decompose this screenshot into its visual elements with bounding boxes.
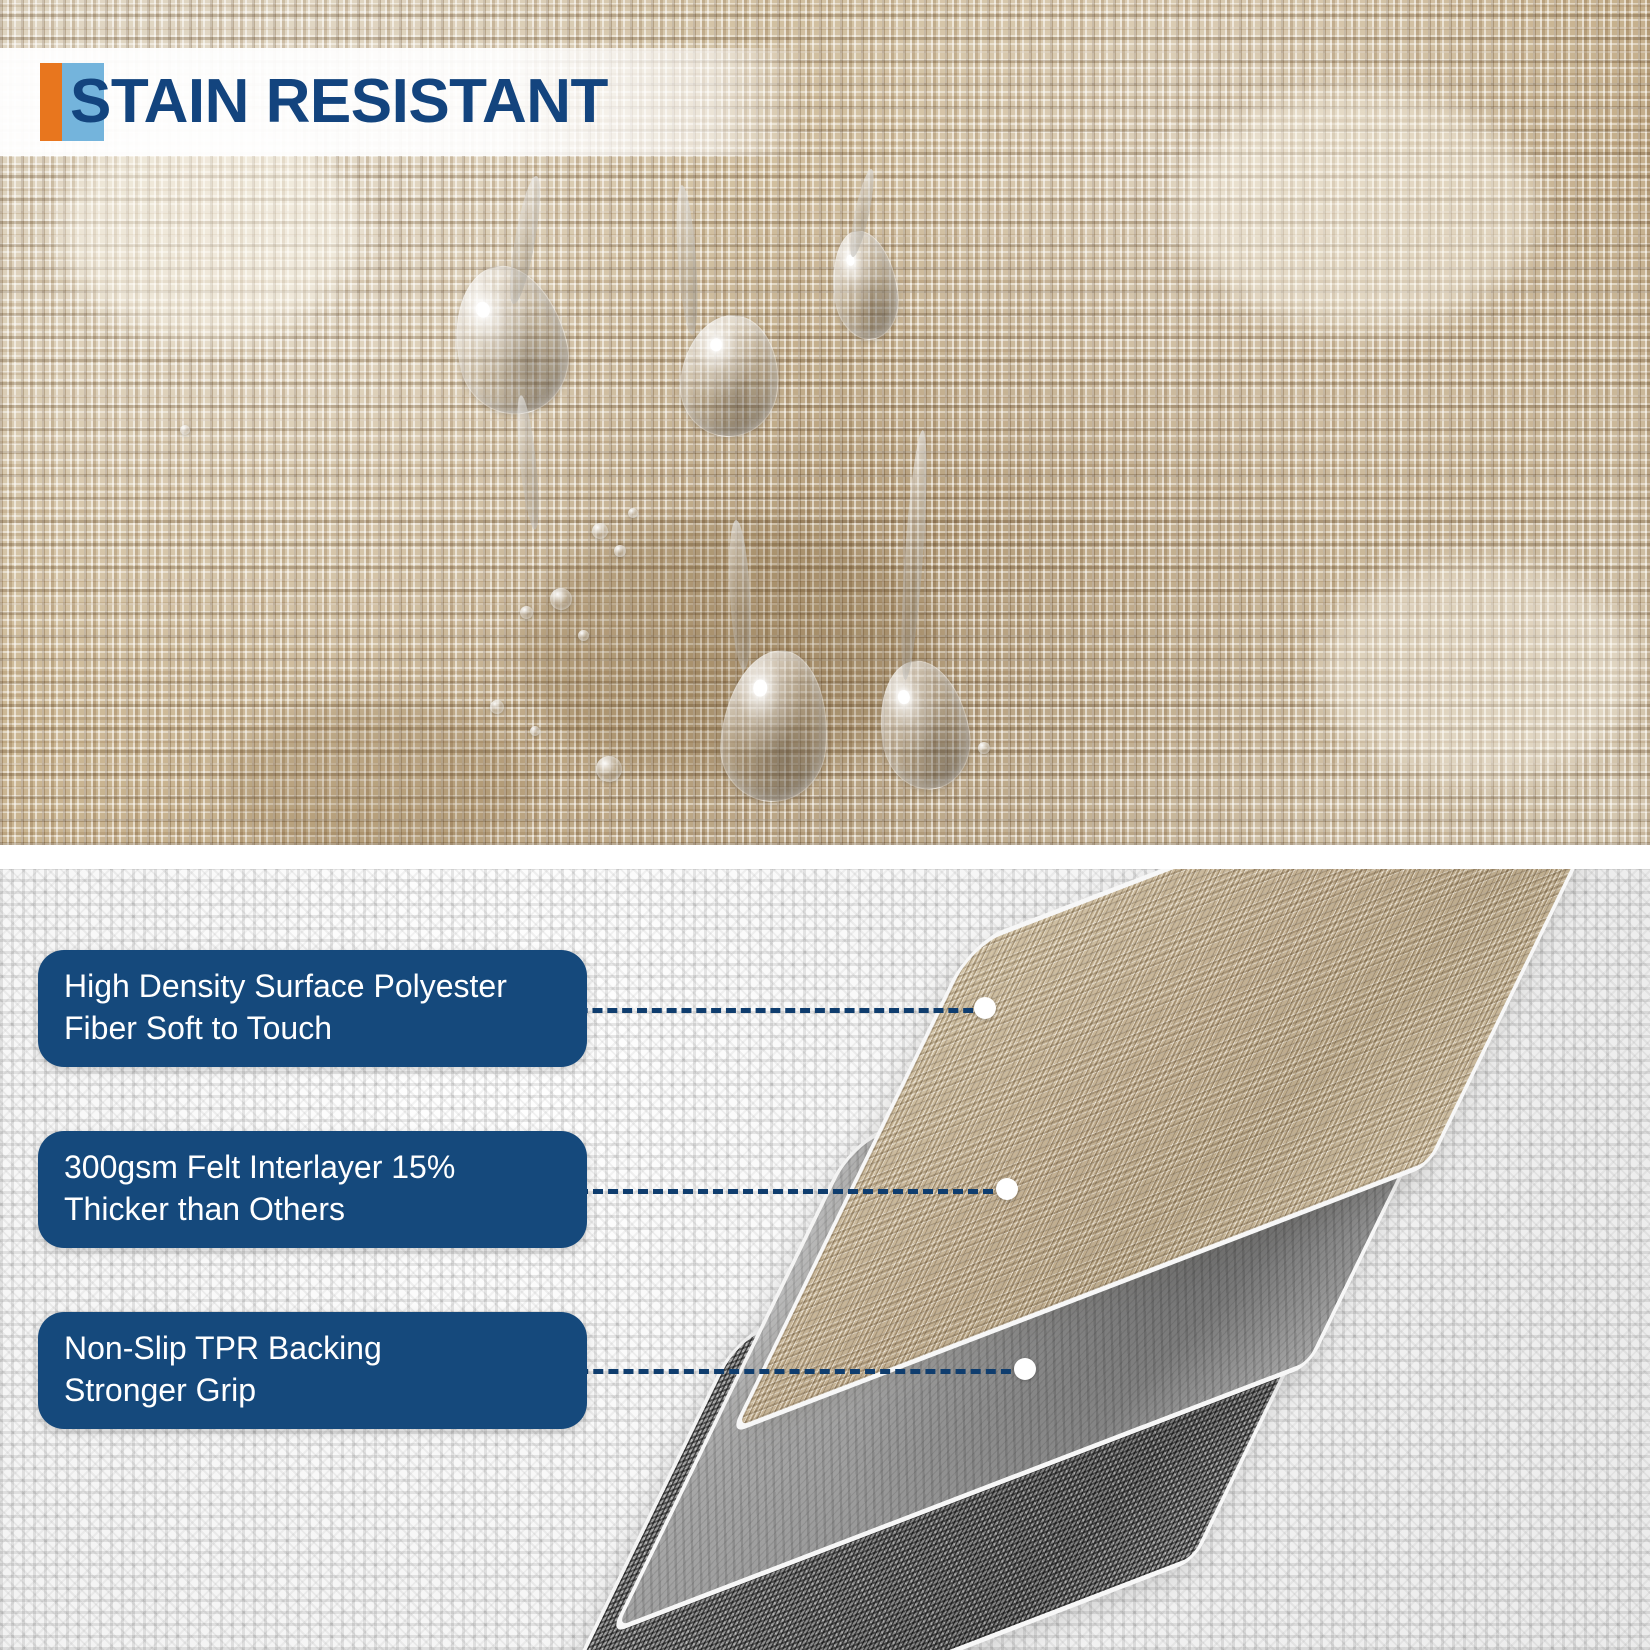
callout-line-2: Thicker than Others bbox=[64, 1189, 561, 1231]
callout-line-2: Fiber Soft to Touch bbox=[64, 1008, 561, 1050]
water-bead bbox=[978, 742, 990, 754]
layer-marker-dot bbox=[974, 997, 996, 1019]
page-title: STAIN RESISTANT bbox=[70, 71, 608, 133]
callout-felt-interlayer: 300gsm Felt Interlayer 15% Thicker than … bbox=[38, 1131, 587, 1248]
water-bead bbox=[578, 630, 589, 641]
water-bead bbox=[614, 545, 626, 557]
layer-marker-dot bbox=[996, 1178, 1018, 1200]
water-bead bbox=[180, 425, 190, 435]
callout-line-1: High Density Surface Polyester bbox=[64, 966, 561, 1008]
callout-connector-line bbox=[548, 1008, 988, 1013]
accent-bar-orange-icon bbox=[40, 63, 62, 141]
water-bead bbox=[530, 726, 540, 736]
stain-resistant-photo-panel: STAIN RESISTANT bbox=[0, 0, 1650, 845]
water-bead bbox=[520, 606, 533, 619]
callout-line-1: 300gsm Felt Interlayer 15% bbox=[64, 1147, 561, 1189]
callout-tpr-backing: Non-Slip TPR Backing Stronger Grip bbox=[38, 1312, 587, 1429]
stain-resistant-title-banner: STAIN RESISTANT bbox=[0, 48, 810, 156]
callout-surface-layer: High Density Surface Polyester Fiber Sof… bbox=[38, 950, 587, 1067]
callout-line-2: Stronger Grip bbox=[64, 1370, 561, 1412]
water-bead bbox=[592, 523, 608, 539]
water-bead bbox=[628, 508, 638, 518]
panel-divider bbox=[0, 845, 1650, 869]
layer-construction-panel: High Density Surface Polyester Fiber Sof… bbox=[0, 869, 1650, 1650]
fabric-blotch bbox=[1320, 560, 1640, 780]
water-bead bbox=[596, 756, 622, 782]
water-bead bbox=[490, 700, 504, 714]
fabric-blotch bbox=[1180, 90, 1540, 330]
callout-line-1: Non-Slip TPR Backing bbox=[64, 1328, 561, 1370]
product-infographic: STAIN RESISTANT High Density Surface Pol… bbox=[0, 0, 1650, 1650]
callout-connector-line bbox=[548, 1369, 1026, 1374]
layer-marker-dot bbox=[1014, 1358, 1036, 1380]
water-bead bbox=[550, 588, 572, 610]
callout-connector-line bbox=[548, 1189, 1008, 1194]
